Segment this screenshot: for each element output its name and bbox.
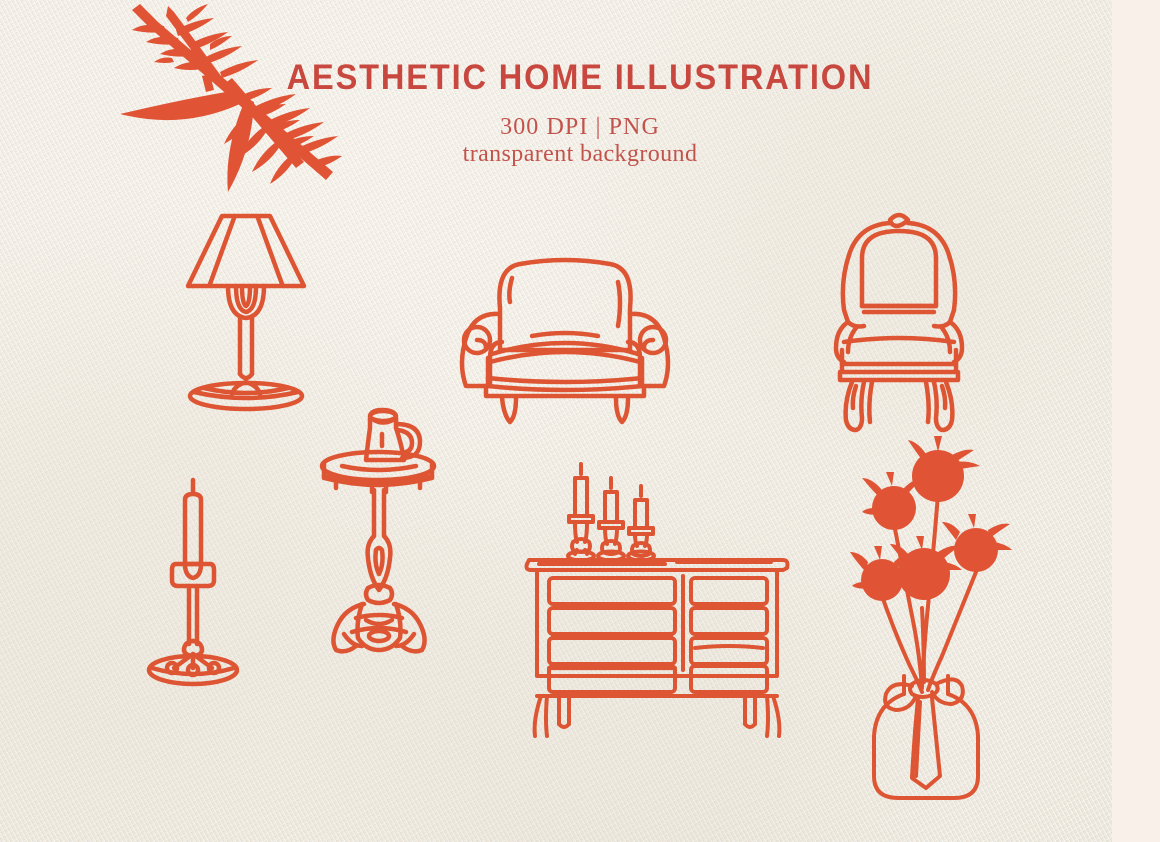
flower-vase-illustration [860,446,1012,732]
pedestal-table-illustration [316,398,448,660]
preview-canvas: AESTHETIC HOME ILLUSTRATION 300 DPI | PN… [0,0,1160,842]
armchair-illustration [450,252,680,424]
fern-sprig-illustration [128,2,343,187]
louis-chair-illustration [812,206,987,438]
candlestick-illustration [146,476,246,688]
sideboard-illustration [525,456,793,736]
table-lamp-illustration [176,206,316,416]
